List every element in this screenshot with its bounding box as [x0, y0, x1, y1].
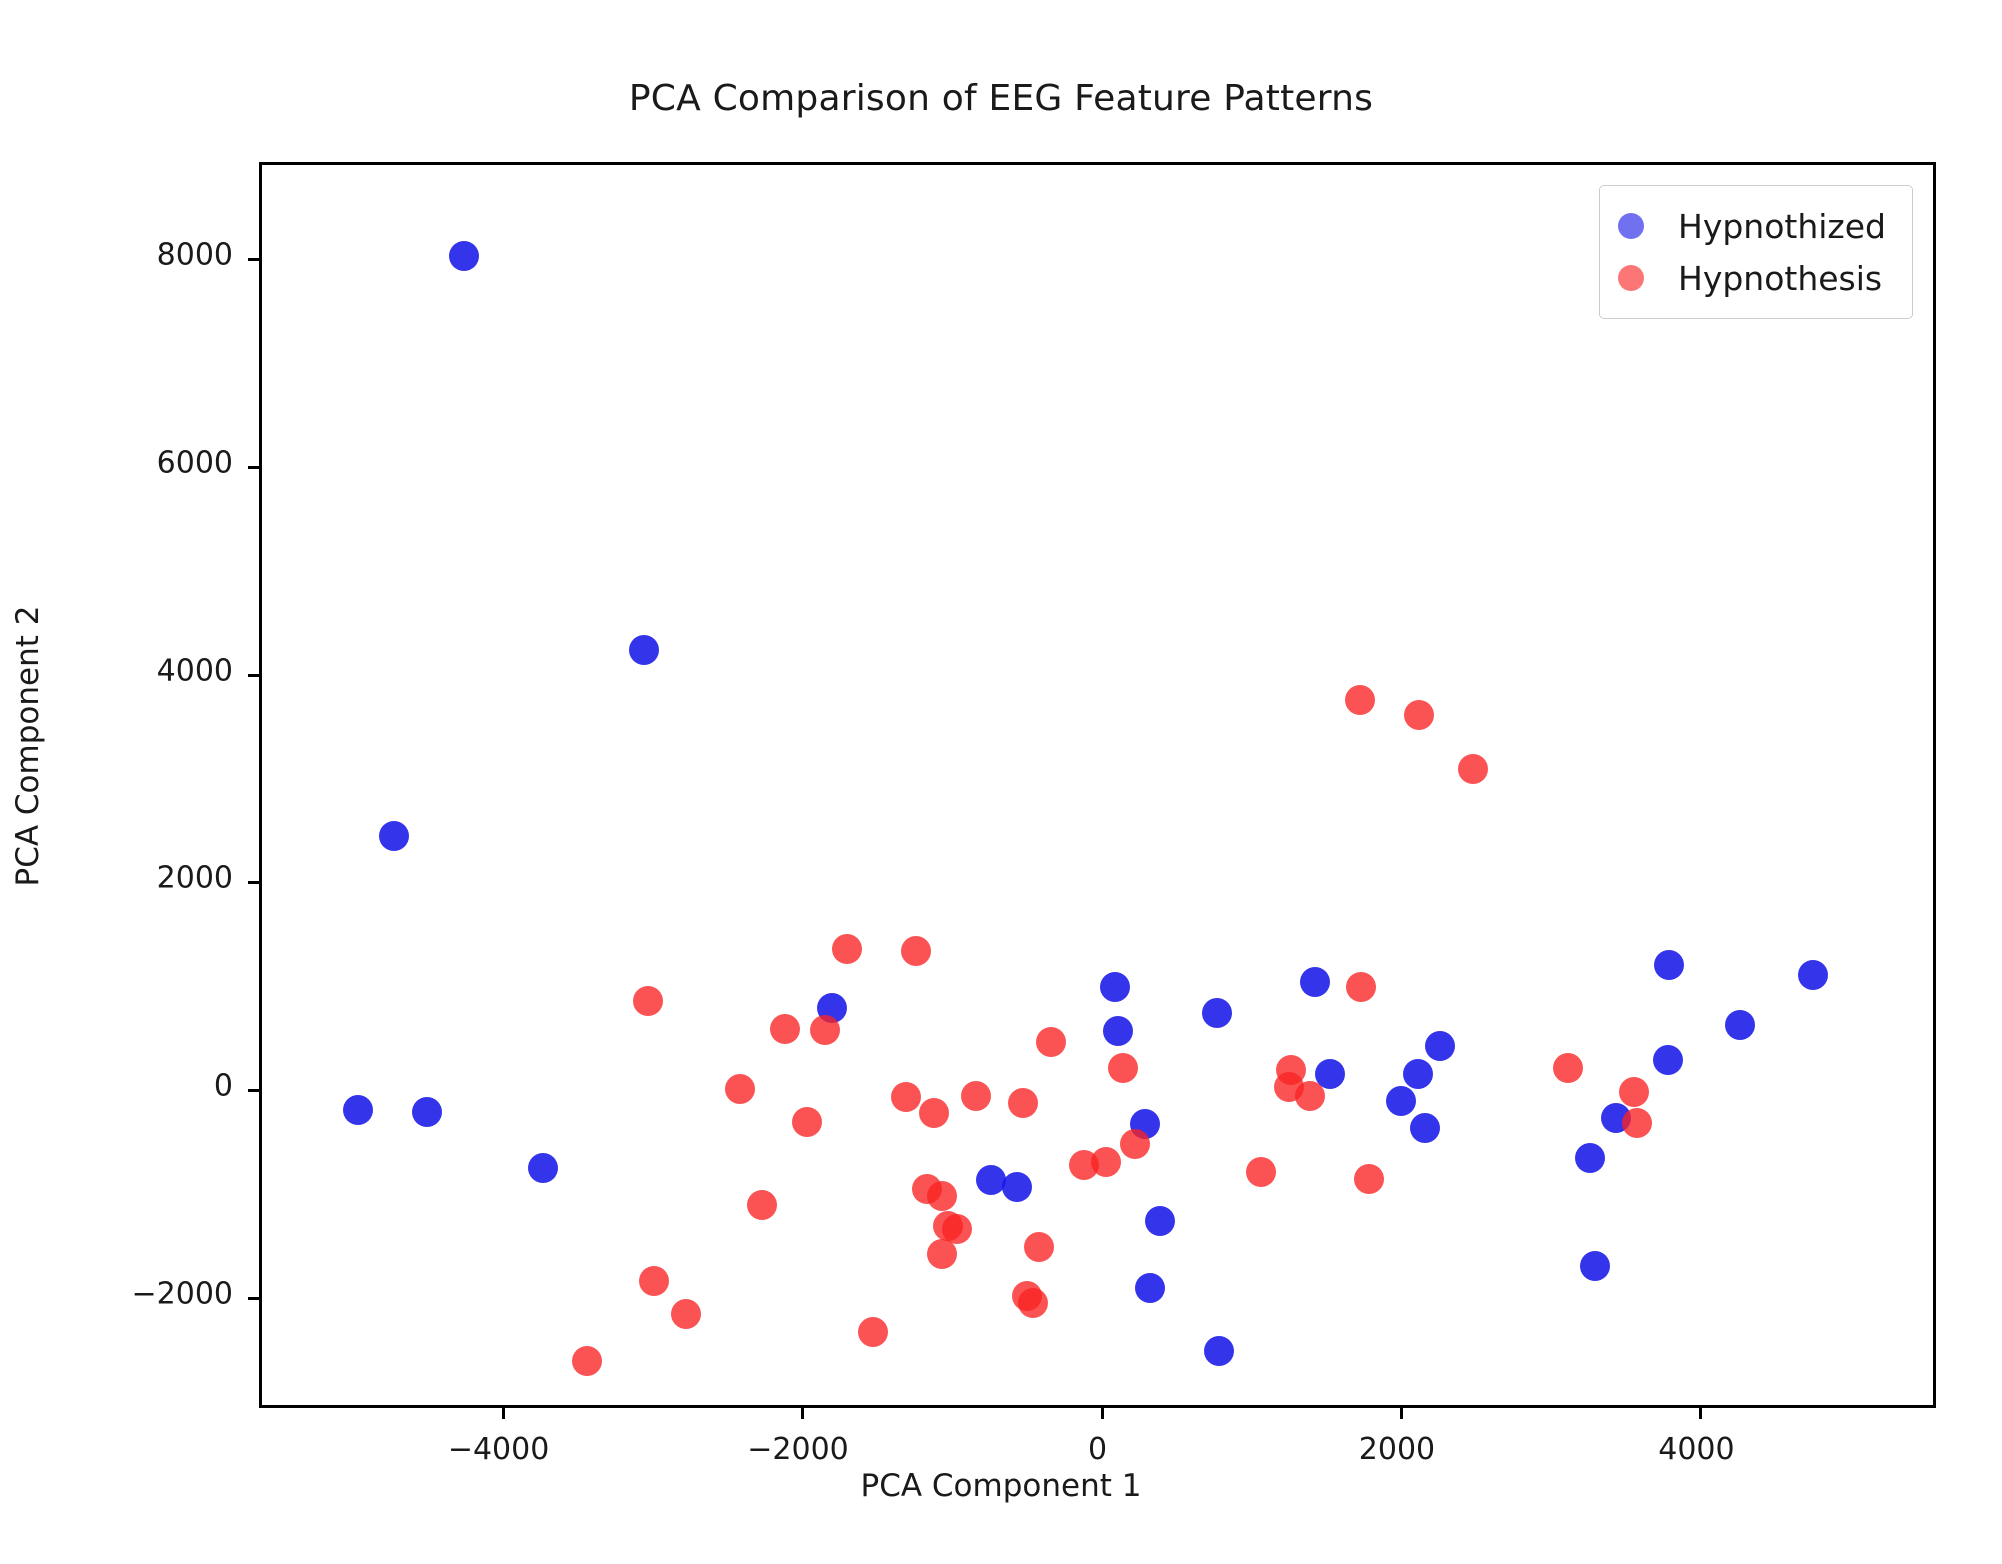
- scatter-point: [858, 1317, 888, 1347]
- scatter-point: [1145, 1206, 1175, 1236]
- figure-canvas: PCA Comparison of EEG Feature Patterns H…: [0, 0, 2002, 1564]
- scatter-point: [1091, 1147, 1121, 1177]
- scatter-point: [1725, 1010, 1755, 1040]
- scatter-point: [528, 1153, 558, 1183]
- scatter-point: [1458, 754, 1488, 784]
- scatter-point: [891, 1082, 921, 1112]
- scatter-point: [1653, 1045, 1683, 1075]
- scatter-point: [633, 986, 663, 1016]
- scatter-point: [1410, 1113, 1440, 1143]
- x-axis-tick-label: −4000: [448, 1432, 549, 1467]
- y-axis-tick: [248, 881, 262, 884]
- scatter-point: [725, 1074, 755, 1104]
- y-axis-tick-label: 8000: [0, 238, 233, 273]
- scatter-point: [1622, 1108, 1652, 1138]
- scatter-point: [792, 1107, 822, 1137]
- scatter-point: [747, 1190, 777, 1220]
- y-axis-tick-label: 0: [0, 1069, 233, 1104]
- scatter-point: [1204, 1336, 1234, 1366]
- scatter-point: [1120, 1129, 1150, 1159]
- scatter-point: [1246, 1157, 1276, 1187]
- scatter-point: [671, 1299, 701, 1329]
- y-axis-tick-label: −2000: [0, 1276, 233, 1311]
- scatter-point: [1654, 950, 1684, 980]
- scatter-point: [1008, 1088, 1038, 1118]
- scatter-point: [1425, 1031, 1455, 1061]
- y-axis-tick: [248, 258, 262, 261]
- y-axis-tick: [248, 1089, 262, 1092]
- scatter-point: [1108, 1053, 1138, 1083]
- scatter-point: [572, 1346, 602, 1376]
- x-axis-tick: [1400, 1405, 1403, 1419]
- scatter-point: [1103, 1016, 1133, 1046]
- scatter-point: [1553, 1053, 1583, 1083]
- y-axis-tick: [248, 674, 262, 677]
- x-axis-tick: [801, 1405, 804, 1419]
- scatter-point: [1619, 1077, 1649, 1107]
- x-axis-tick-label: 2000: [1359, 1432, 1435, 1467]
- y-axis-title: PCA Component 2: [10, 426, 46, 1066]
- legend-label: Hypnothized: [1678, 207, 1886, 246]
- scatter-point: [1036, 1027, 1066, 1057]
- y-axis-tick: [248, 466, 262, 469]
- scatter-point: [449, 241, 479, 271]
- scatter-point: [1798, 960, 1828, 990]
- scatter-point: [1404, 700, 1434, 730]
- scatter-point: [1386, 1086, 1416, 1116]
- scatter-point: [1135, 1273, 1165, 1303]
- chart-legend[interactable]: Hypnothized Hypnothesis: [1599, 185, 1913, 319]
- scatter-point: [1024, 1232, 1054, 1262]
- scatter-point: [1580, 1251, 1610, 1281]
- scatter-point: [1295, 1081, 1325, 1111]
- scatter-point: [343, 1095, 373, 1125]
- scatter-point: [770, 1014, 800, 1044]
- x-axis-tick: [502, 1405, 505, 1419]
- x-axis-tick-label: −2000: [747, 1432, 848, 1467]
- scatter-point: [810, 1015, 840, 1045]
- legend-label: Hypnothesis: [1678, 259, 1882, 298]
- scatter-point: [1575, 1143, 1605, 1173]
- scatter-point: [1100, 972, 1130, 1002]
- scatter-point: [961, 1081, 991, 1111]
- x-axis-tick-label: 0: [1088, 1432, 1107, 1467]
- legend-marker-circle-icon: [1618, 213, 1644, 239]
- scatter-point: [927, 1181, 957, 1211]
- scatter-point: [832, 934, 862, 964]
- x-axis-tick: [1101, 1405, 1104, 1419]
- scatter-point: [1354, 1164, 1384, 1194]
- legend-item-hypnothesis[interactable]: Hypnothesis: [1618, 252, 1886, 304]
- scatter-point: [919, 1098, 949, 1128]
- scatter-points-layer: [262, 165, 1933, 1405]
- scatter-point: [1403, 1059, 1433, 1089]
- scatter-point: [1346, 972, 1376, 1002]
- scatter-point: [927, 1239, 957, 1269]
- scatter-point: [901, 936, 931, 966]
- chart-title: PCA Comparison of EEG Feature Patterns: [0, 78, 2002, 119]
- x-axis-tick: [1699, 1405, 1702, 1419]
- scatter-point: [1300, 967, 1330, 997]
- scatter-point: [379, 821, 409, 851]
- plot-area: Hypnothized Hypnothesis: [259, 162, 1936, 1408]
- scatter-point: [1345, 685, 1375, 715]
- scatter-point: [1018, 1288, 1048, 1318]
- x-axis-tick-label: 4000: [1658, 1432, 1734, 1467]
- y-axis-tick: [248, 1297, 262, 1300]
- scatter-point: [1002, 1172, 1032, 1202]
- legend-item-hypnothized[interactable]: Hypnothized: [1618, 200, 1886, 252]
- scatter-point: [412, 1097, 442, 1127]
- scatter-point: [629, 635, 659, 665]
- legend-marker-circle-icon: [1618, 265, 1644, 291]
- scatter-point: [1202, 998, 1232, 1028]
- scatter-point: [639, 1266, 669, 1296]
- x-axis-title: PCA Component 1: [0, 1468, 2002, 1504]
